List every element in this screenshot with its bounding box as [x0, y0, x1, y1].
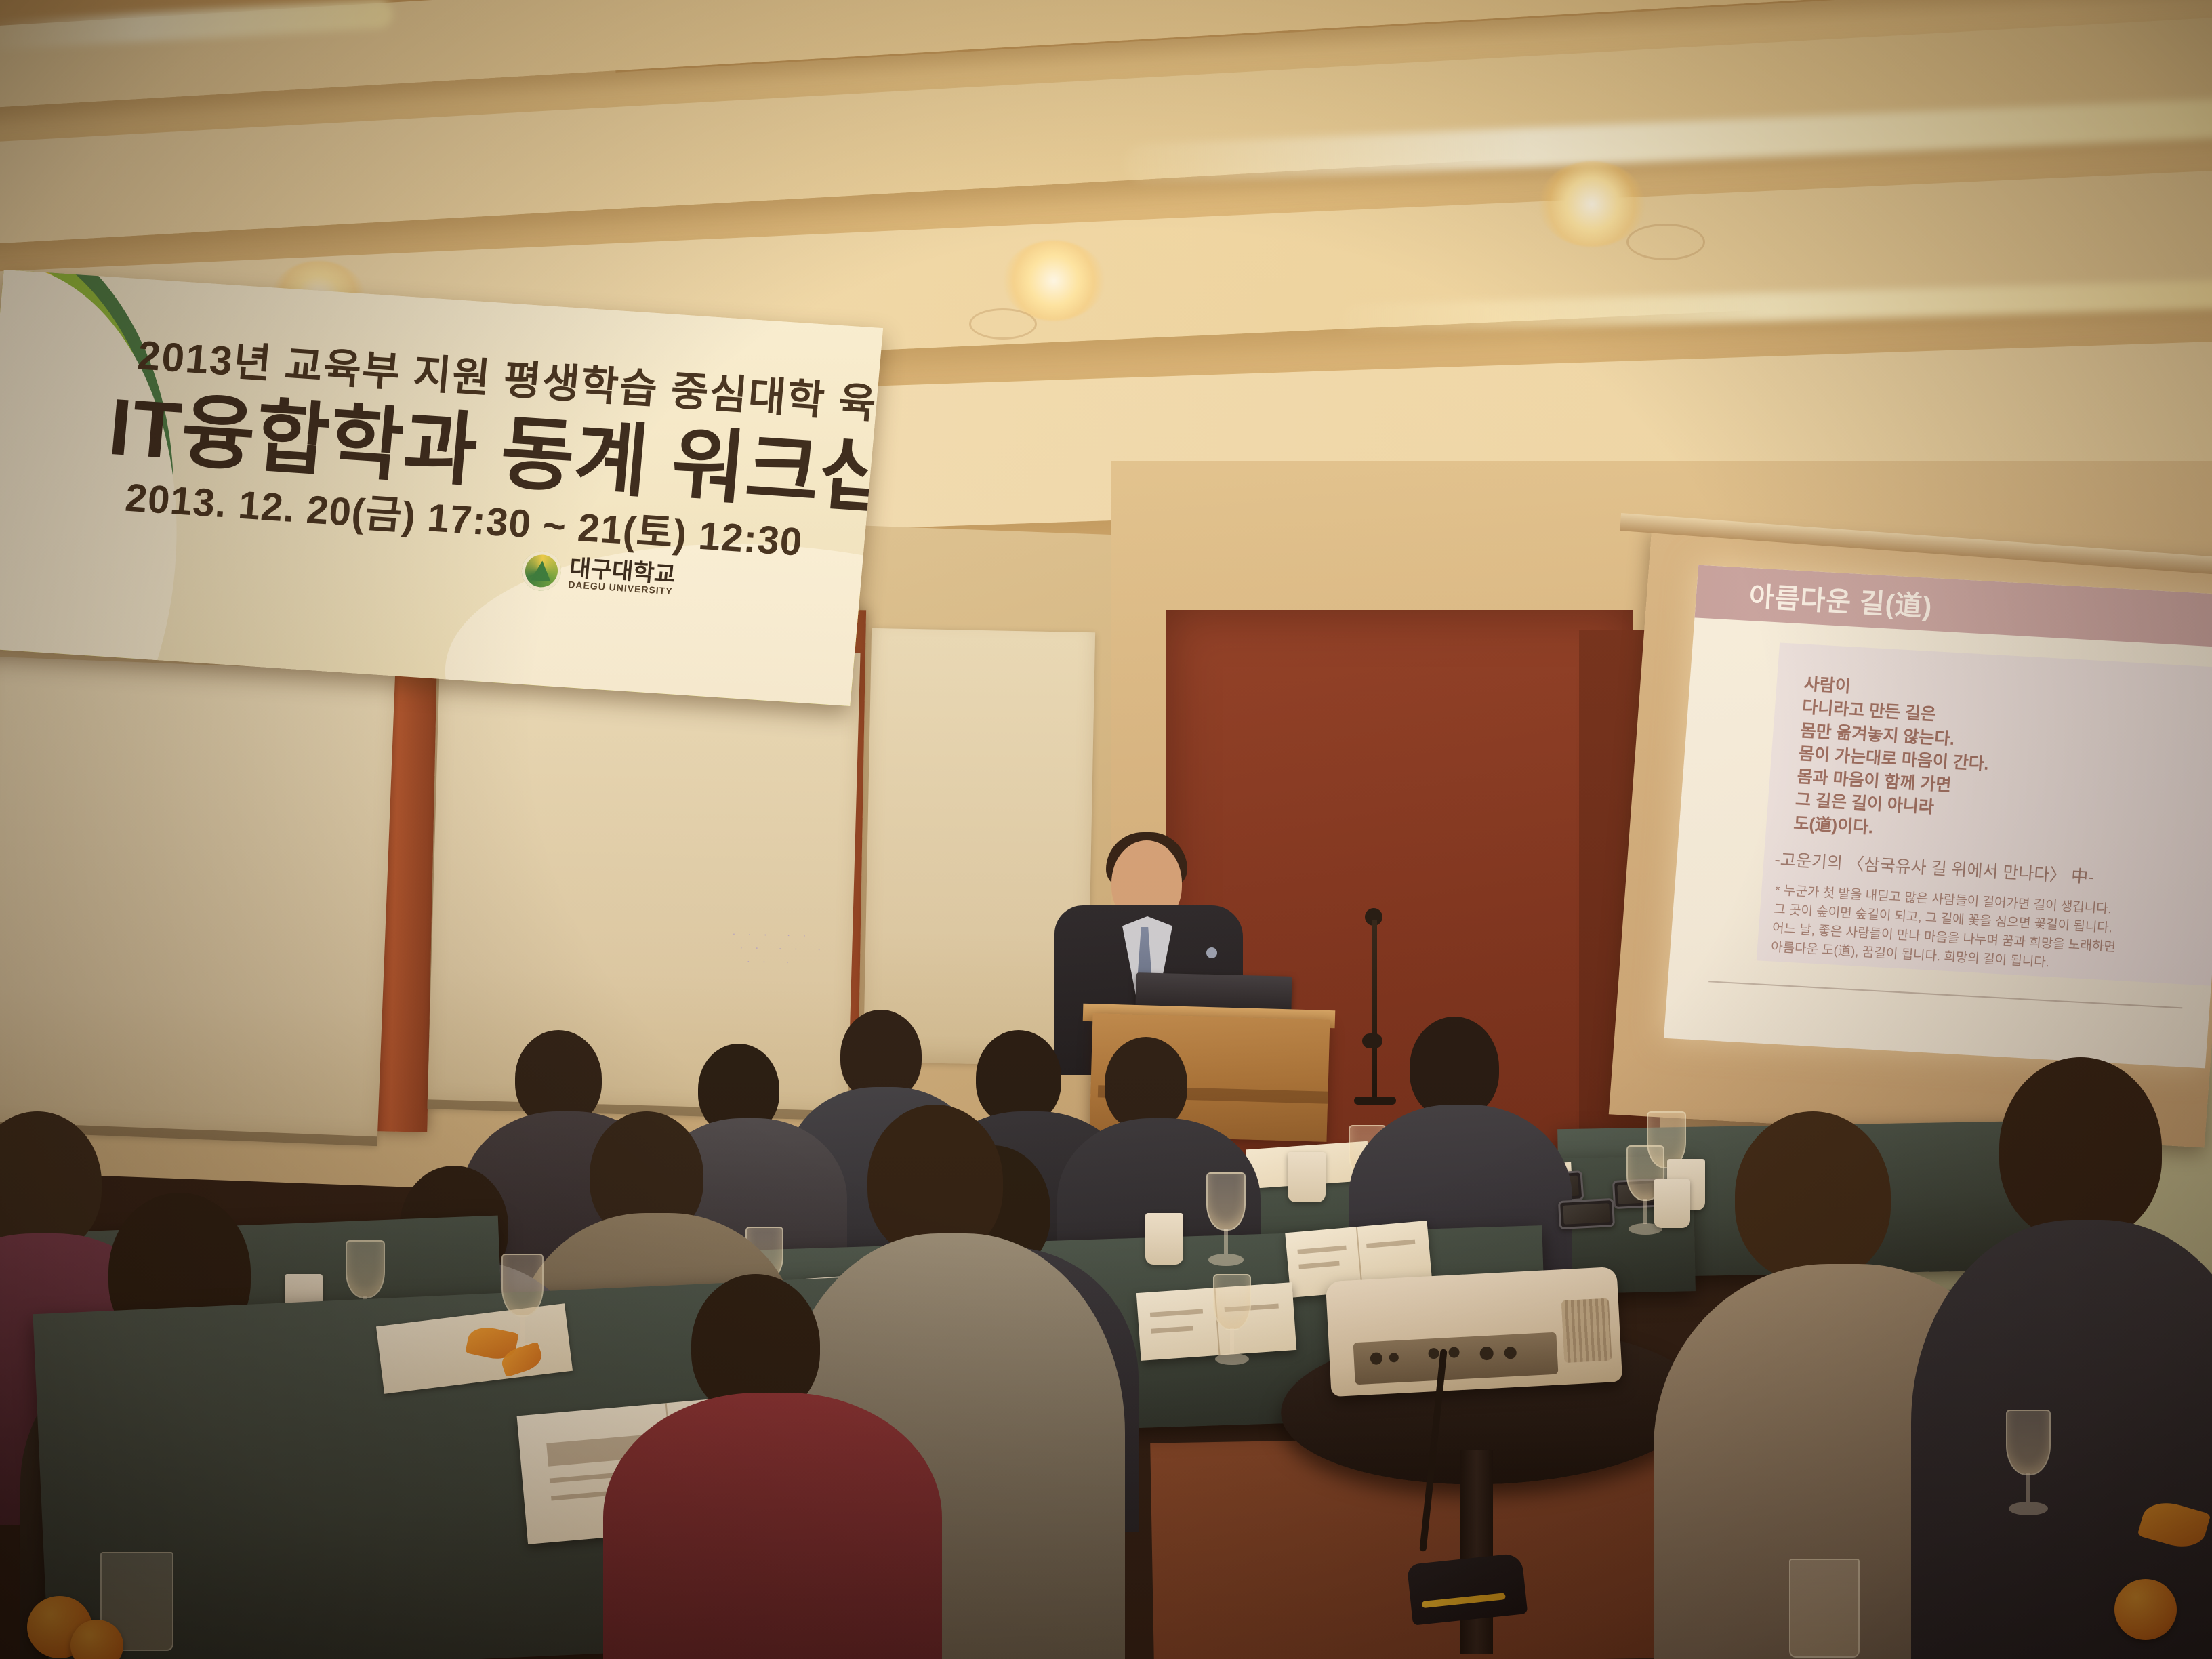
downlight-icon-2 [1003, 241, 1105, 321]
paper-cup [1288, 1152, 1326, 1202]
emblem-leaf-icon [531, 560, 553, 582]
shoe [1407, 1553, 1528, 1625]
attendee-head [1410, 1017, 1499, 1118]
booklet-text-line [1151, 1326, 1193, 1333]
attendee-head [1105, 1037, 1187, 1130]
slide-title: 아름다운 길(道) [1748, 575, 1934, 624]
shoe-stripe [1422, 1593, 1506, 1608]
projector-port-panel [1353, 1332, 1559, 1385]
round-table-leg [1460, 1450, 1493, 1654]
wine-glass [1213, 1274, 1251, 1365]
microphone-stand-base [1354, 1097, 1396, 1105]
projected-slide: 아름다운 길(道) 사람이 다니라고 만든 길은 몸만 옮겨놓지 않는다. 몸이… [1664, 565, 2212, 1069]
downlight-recess-ring-2 [969, 308, 1037, 340]
projector-port-icon [1428, 1348, 1439, 1359]
projector [1326, 1267, 1622, 1397]
slide-poem: 사람이 다니라고 만든 길은 몸만 옮겨놓지 않는다. 몸이 가는대로 마음이 … [1793, 673, 1994, 846]
projector-port-icon [1448, 1347, 1460, 1358]
projector-port-icon [1504, 1347, 1517, 1359]
booklet-text-line [1366, 1240, 1415, 1248]
smartphone [1558, 1198, 1615, 1229]
microphone-stand [1372, 920, 1377, 1101]
booklet-text-line [1297, 1246, 1346, 1254]
event-banner: 2013년 교육부 지원 평생학습 중심대학 육성사업 IT융합학과 동계 워크… [0, 270, 883, 706]
projected-dot-artifacts: · · · · · · · · · · · · · [731, 927, 826, 970]
seminar-room-photo: · · · · · · · · · · · · · 2013년 교육부 지원 평… [0, 0, 2212, 1659]
slide-footnote: * 누군가 첫 발을 내딛고 많은 사람들이 걸어가면 길이 생깁니다. 그 곳… [1770, 882, 2119, 977]
booklet-text-line [1298, 1261, 1339, 1269]
attendee-torso-plaid [603, 1393, 942, 1659]
roller-blind-2 [427, 641, 860, 1120]
attendee-head [1735, 1111, 1891, 1281]
speaker-lapel-pin-icon [1206, 947, 1217, 958]
slide-text-panel: 사람이 다니라고 만든 길은 몸만 옮겨놓지 않는다. 몸이 가는대로 마음이 … [1757, 642, 2212, 986]
microphone-stand-adjuster [1362, 1033, 1382, 1048]
water-tumbler [1789, 1559, 1860, 1658]
slide-citation: -고운기의 〈삼국유사 길 위에서 만나다〉 中- [1774, 846, 2094, 888]
attendee-head [1999, 1057, 2162, 1240]
wine-glass [1206, 1172, 1246, 1266]
paper-cup [1654, 1179, 1690, 1228]
projector-port-icon [1479, 1347, 1494, 1361]
slide-bottom-rule [1708, 981, 2182, 1008]
roller-blind-1 [0, 657, 395, 1147]
projector-vent [1561, 1298, 1612, 1364]
projector-port-icon [1370, 1352, 1382, 1365]
daegu-university-emblem-icon [520, 550, 563, 592]
booklet-text-line [1150, 1309, 1203, 1317]
downlight-recess-ring-1 [1626, 224, 1705, 260]
projector-port-icon [1389, 1353, 1399, 1363]
tangerine [2114, 1579, 2177, 1640]
attendee-head [976, 1030, 1061, 1125]
paper-cup [1145, 1213, 1183, 1265]
wine-glass [2006, 1410, 2051, 1515]
